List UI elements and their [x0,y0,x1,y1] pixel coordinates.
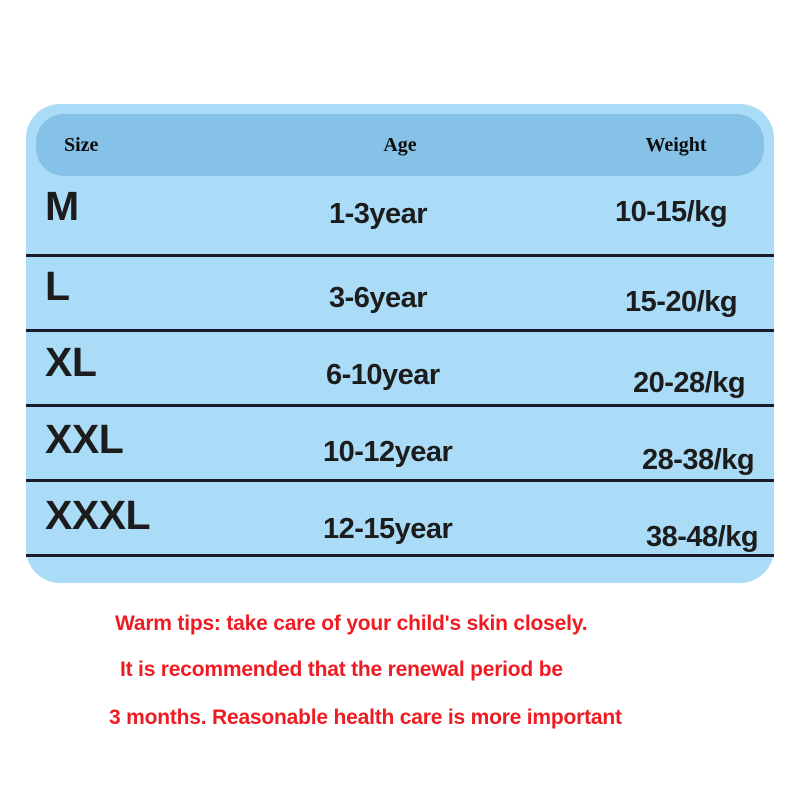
cell-age: 3-6year [329,282,427,315]
cell-weight: 20-28/kg [633,367,745,400]
table-row: M 1-3year 10-15/kg [26,182,774,257]
table-row: XXL 10-12year 28-38/kg [26,407,774,482]
warm-tips-line: Warm tips: take care of your child's ski… [115,612,587,636]
column-header-weight: Weight [312,114,800,176]
table-row: XL 6-10year 20-28/kg [26,332,774,407]
size-chart-card: Size Age Weight M 1-3year 10-15/kg L 3-6… [26,104,774,583]
warm-tips-line: 3 months. Reasonable health care is more… [109,706,622,730]
cell-weight: 28-38/kg [642,444,754,477]
cell-size: XL [45,339,96,386]
warm-tips-line: It is recommended that the renewal perio… [120,658,563,682]
cell-age: 10-12year [323,436,452,469]
table-row: L 3-6year 15-20/kg [26,257,774,332]
cell-age: 1-3year [329,198,427,231]
cell-weight: 38-48/kg [646,521,758,554]
table-row: XXXL 12-15year 38-48/kg [26,482,774,557]
table-header-row: Size Age Weight [36,114,764,176]
cell-weight: 15-20/kg [625,286,737,319]
table-body: M 1-3year 10-15/kg L 3-6year 15-20/kg XL… [26,182,774,557]
cell-age: 6-10year [326,359,440,392]
cell-size: XXXL [45,492,150,539]
cell-weight: 10-15/kg [615,196,727,229]
cell-size: L [45,263,70,310]
cell-size: XXL [45,416,123,463]
cell-size: M [45,183,79,230]
cell-age: 12-15year [323,513,452,546]
